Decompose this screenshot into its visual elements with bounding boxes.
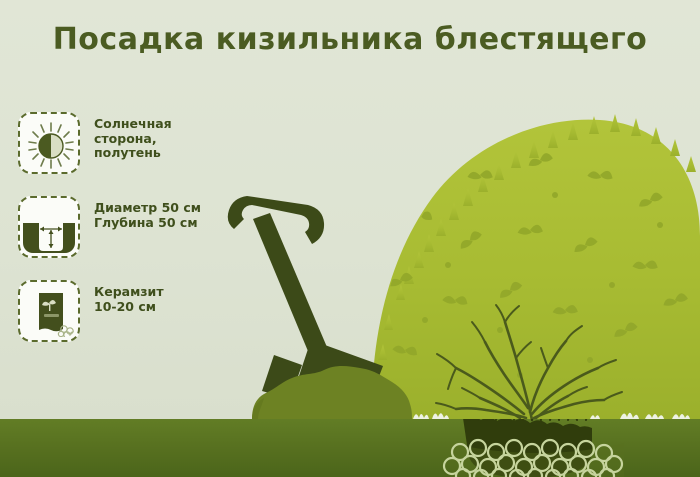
sun-half-icon	[23, 117, 75, 169]
cotoneaster-shrub	[372, 114, 700, 420]
sun-half-icon-box	[18, 112, 80, 174]
planting-hole-dimensions-icon	[23, 201, 75, 253]
legend-item-keramzit[interactable]: Керамзит 10-20 см	[18, 280, 248, 342]
infographic-canvas: Посадка кизильника блестящего	[0, 0, 700, 477]
expanded-clay-bag-icon-box	[18, 280, 80, 342]
legend-item-hole-size[interactable]: Диаметр 50 см Глубина 50 см	[18, 196, 248, 258]
page-title: Посадка кизильника блестящего	[0, 22, 700, 57]
legend-item-sunlight[interactable]: Солнечная сторона, полутень	[18, 112, 248, 174]
legend-item-keramzit-label: Керамзит 10-20 см	[94, 280, 164, 314]
legend-panel: Солнечная сторона, полутень	[18, 112, 248, 364]
expanded-clay-bag-icon	[23, 285, 75, 337]
legend-item-hole-size-label: Диаметр 50 см Глубина 50 см	[94, 196, 201, 230]
planting-hole-dimensions-icon-box	[18, 196, 80, 258]
legend-item-sunlight-label: Солнечная сторона, полутень	[94, 112, 172, 161]
